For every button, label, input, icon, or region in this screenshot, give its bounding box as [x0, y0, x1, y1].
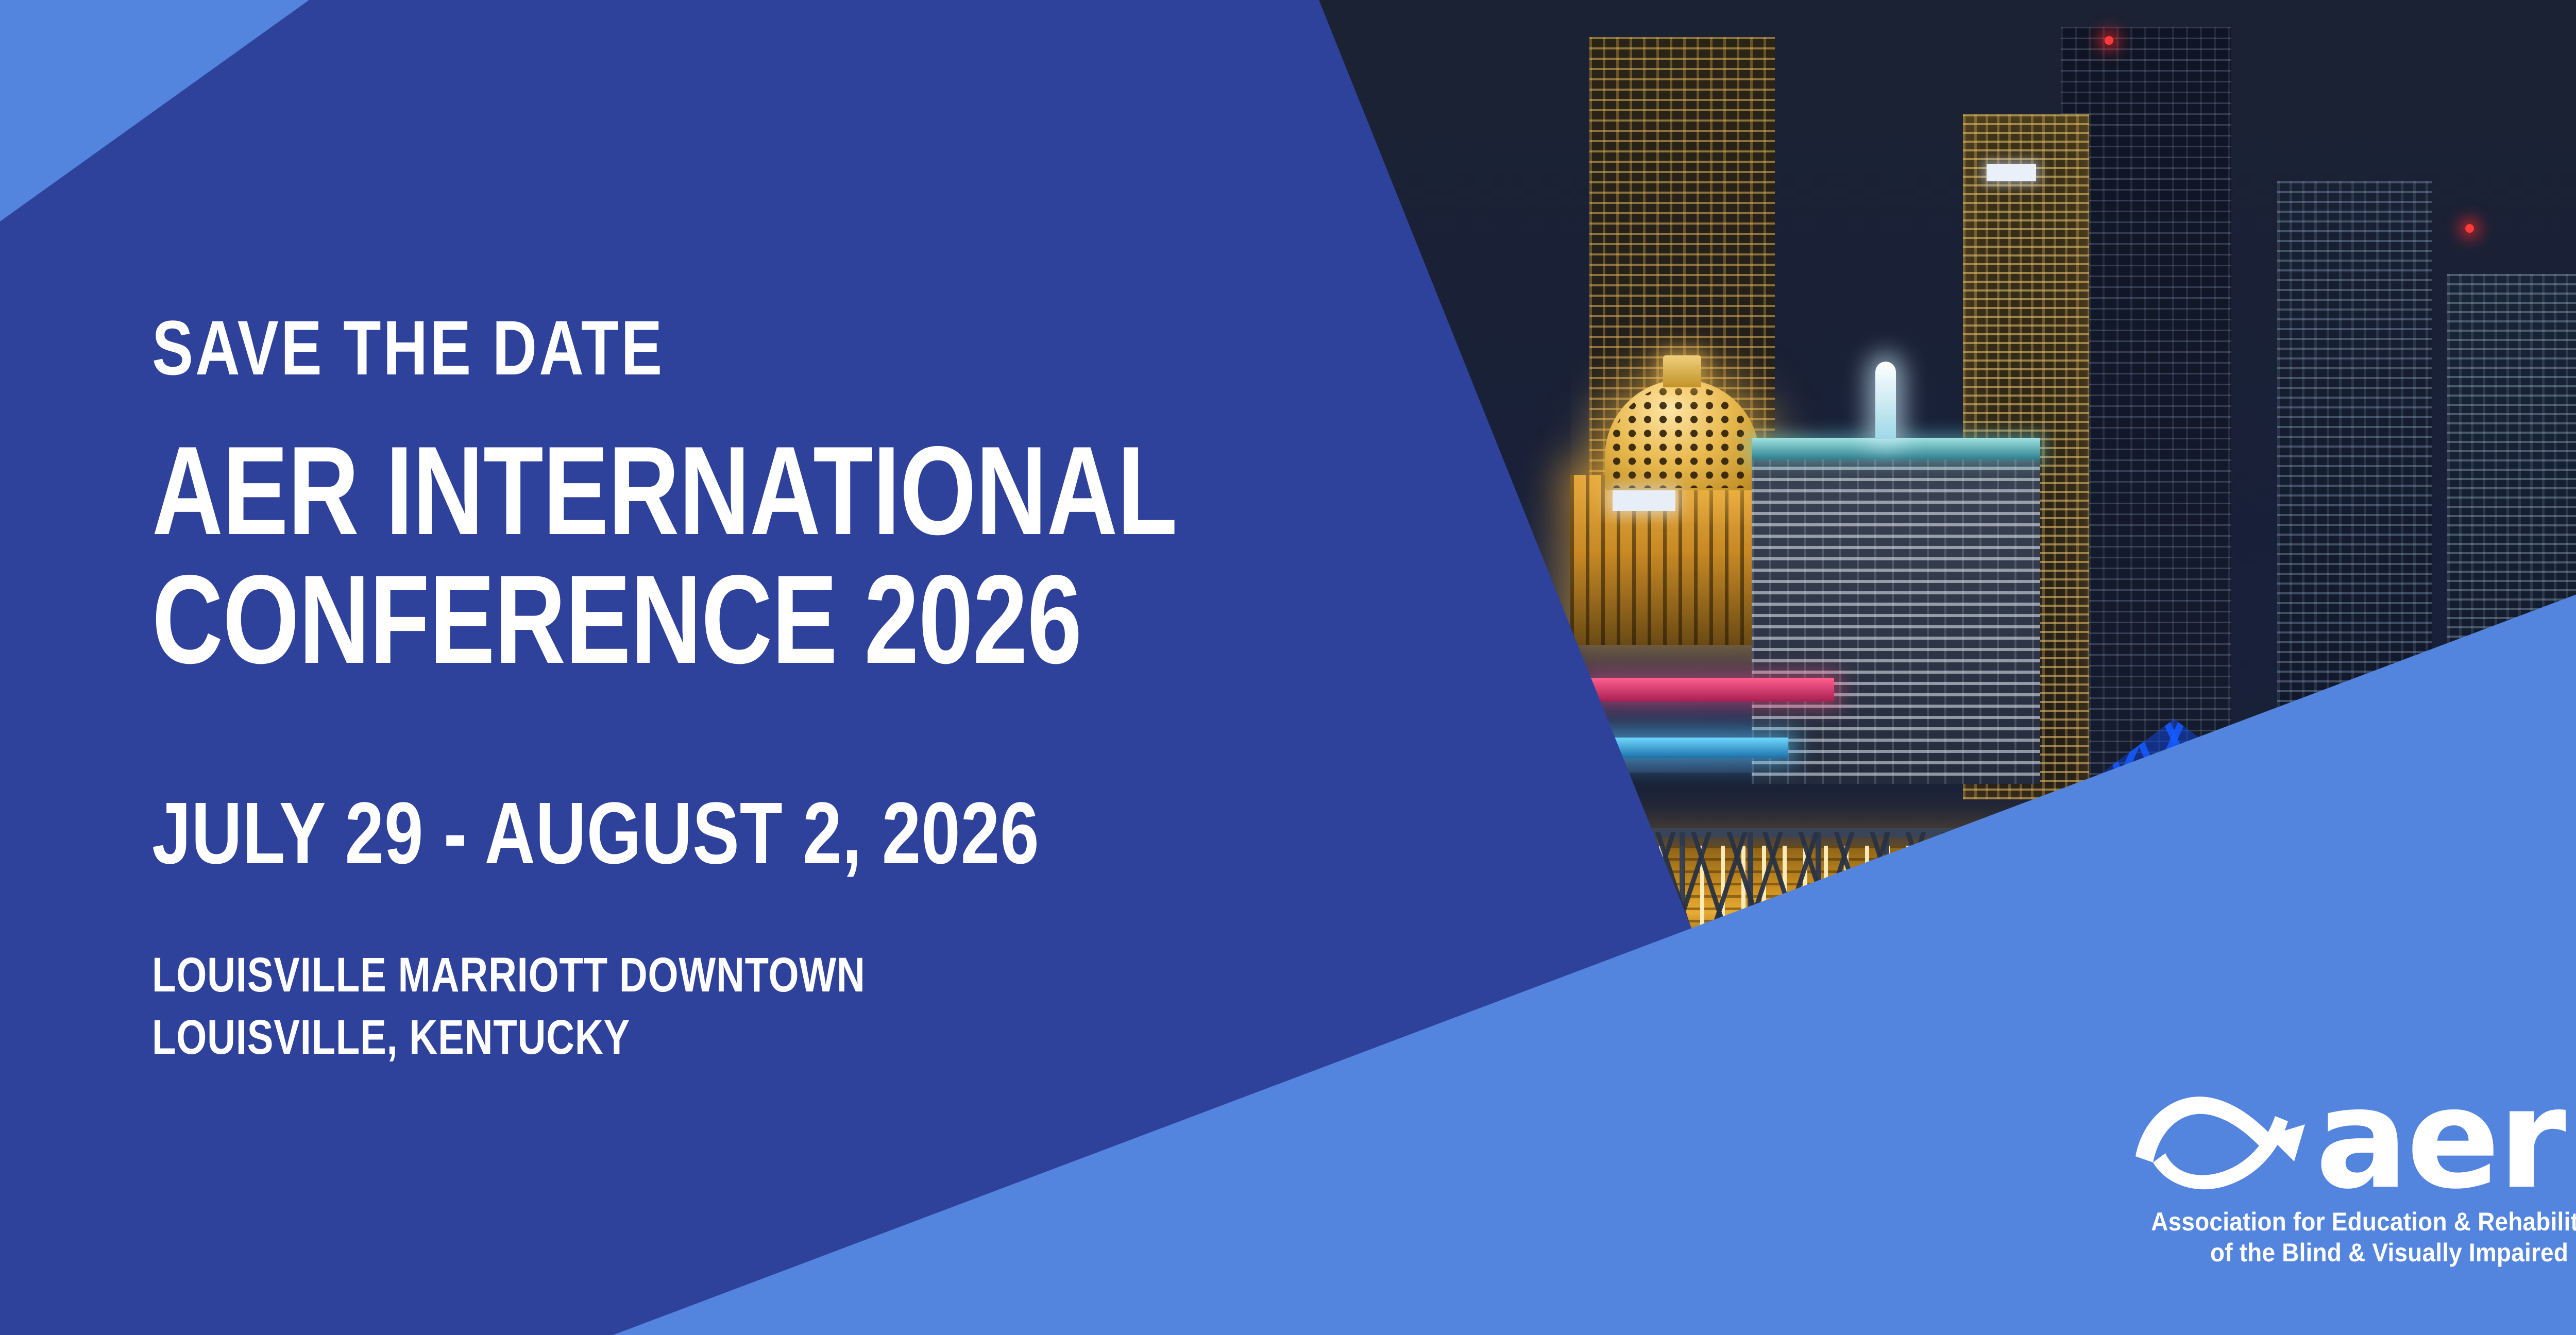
headline-line-1: AER INTERNATIONAL: [152, 426, 1398, 555]
venue-block: LOUISVILLE MARRIOTT DOWNTOWN LOUISVILLE,…: [152, 944, 1749, 1069]
save-the-date-banner: SAVE THE DATE AER INTERNATIONAL CONFEREN…: [0, 0, 2576, 1335]
venue-city-state: LOUISVILLE, KENTUCKY: [152, 1006, 1430, 1069]
midrise-spire: [1875, 362, 1896, 439]
tagline-line-2: of the Blind & Visually Impaired: [2151, 1237, 2576, 1268]
tagline-line-1: Association for Education & Rehabilitati…: [2151, 1206, 2576, 1237]
aviation-beacon-icon: [2465, 224, 2474, 233]
page-title: AER INTERNATIONAL CONFERENCE 2026: [152, 426, 1749, 684]
aer-wordmark: aer: [2315, 1086, 2564, 1193]
aer-logo: aer Association for Education & Rehabili…: [2130, 1084, 2576, 1268]
striped-midrise-building: [1752, 444, 2040, 784]
tower-rooftop-sign: [1987, 164, 2036, 181]
eyebrow-save-the-date: SAVE THE DATE: [152, 309, 1430, 386]
conference-dates: JULY 29 - AUGUST 2, 2026: [152, 790, 1430, 877]
midrise-lit-crown: [1752, 438, 2040, 459]
banner-copy: SAVE THE DATE AER INTERNATIONAL CONFEREN…: [152, 309, 1749, 1069]
headline-line-2: CONFERENCE 2026: [152, 555, 1398, 684]
aer-infinity-eye-arrow-icon: [2130, 1084, 2308, 1195]
venue-name: LOUISVILLE MARRIOTT DOWNTOWN: [152, 944, 1430, 1007]
aer-logo-lockup: aer: [2130, 1084, 2576, 1195]
aviation-beacon-icon: [2105, 36, 2113, 45]
aer-tagline: Association for Education & Rehabilitati…: [2130, 1206, 2576, 1268]
